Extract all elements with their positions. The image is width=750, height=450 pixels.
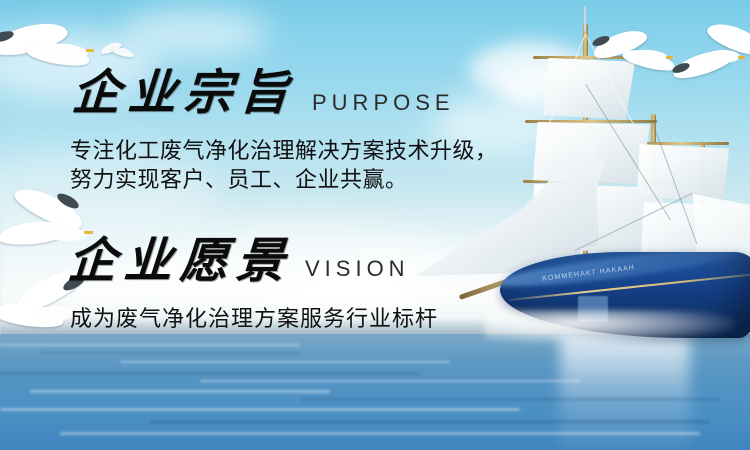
vision-subtitle-line-1: 成为废气净化治理方案服务行业标杆 — [70, 304, 438, 333]
purpose-heading-en: PURPOSE — [312, 90, 455, 116]
seagull-icon — [100, 42, 134, 60]
purpose-subtitle-line-2: 努力实现客户、员工、企业共赢。 — [70, 165, 498, 194]
water-ripple — [40, 352, 300, 354]
water-ripple — [30, 390, 330, 393]
seagull-icon — [672, 28, 750, 86]
purpose-heading-cn: 企业宗旨 — [70, 70, 297, 118]
water-ripple — [0, 408, 520, 411]
water-ripple — [0, 372, 420, 375]
ship-sail — [637, 144, 729, 202]
vision-heading-cn: 企业愿景 — [66, 238, 293, 286]
bow-wave — [485, 310, 735, 344]
cloud-shape — [120, 10, 270, 56]
water-ripple — [120, 361, 450, 363]
water-ripple — [150, 420, 710, 424]
seagull-icon — [592, 34, 682, 76]
promo-banner: KOMMEHAKT HAKAAH — [0, 0, 750, 450]
vision-subtitle: 成为废气净化治理方案服务行业标杆 — [70, 304, 438, 333]
water-ripple — [0, 344, 300, 346]
purpose-subtitle-line-1: 专注化工废气净化治理解决方案技术升级， — [70, 136, 498, 165]
ship-masthead — [584, 6, 586, 32]
water-ripple — [300, 398, 720, 401]
purpose-subtitle: 专注化工废气净化治理解决方案技术升级， 努力实现客户、员工、企业共赢。 — [70, 136, 498, 194]
vision-heading-en: VISION — [305, 256, 410, 282]
water-ripple — [60, 432, 700, 435]
